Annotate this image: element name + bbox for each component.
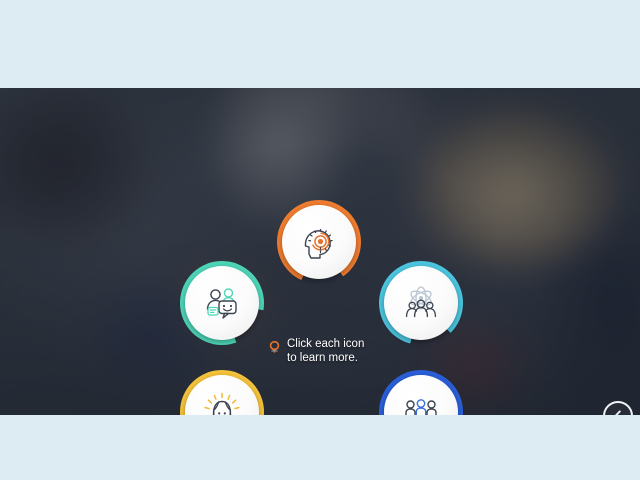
node-disc <box>185 266 259 340</box>
hint-block: Click each icon to learn more. <box>268 338 364 365</box>
group-atom-icon <box>399 281 443 325</box>
person-radiating-icon <box>200 390 244 415</box>
node-communication[interactable] <box>180 261 264 345</box>
player-header: TrainingBriefs® Why Respect Matters Cult… <box>0 45 640 88</box>
node-disc <box>384 266 458 340</box>
head-with-gears-icon <box>297 220 341 264</box>
node-inclusion[interactable] <box>379 370 463 415</box>
node-teamwork[interactable] <box>379 261 463 345</box>
people-speech-bubbles-icon <box>200 281 244 325</box>
slide-stage: Click each icon to learn more. 1 2 3 <box>0 88 640 415</box>
chevron-left-icon <box>612 410 624 415</box>
node-thinking[interactable] <box>277 200 361 284</box>
hint-text: Click each icon to learn more. <box>287 338 364 365</box>
node-disc <box>282 205 356 279</box>
node-awareness[interactable] <box>180 370 264 415</box>
course-player: TrainingBriefs® Why Respect Matters Cult… <box>0 0 640 480</box>
click-cursor-icon <box>268 340 281 353</box>
three-people-icon <box>399 390 443 415</box>
